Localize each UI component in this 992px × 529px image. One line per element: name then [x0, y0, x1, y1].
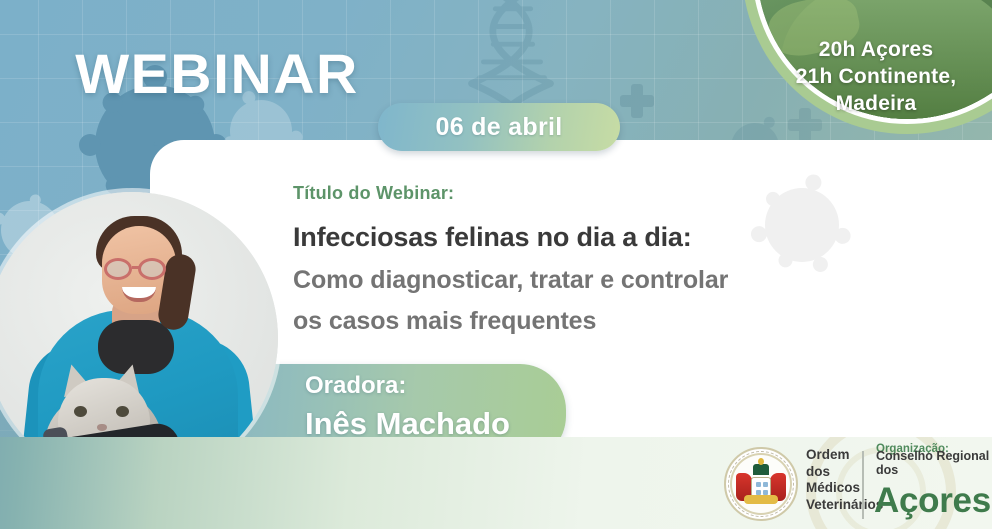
- webinar-title-label: Título do Webinar:: [293, 183, 454, 204]
- speaker-role-label: Oradora:: [305, 372, 406, 400]
- webinar-subtitle-line-1: Como diagnosticar, tratar e controlar: [293, 260, 728, 301]
- organization-subtitle: Conselho Regional dos: [876, 449, 992, 477]
- virus-icon-card-watermark: [727, 150, 877, 300]
- schedule-times: 20h Açores 21h Continente, Madeira: [768, 36, 984, 117]
- omv-name-line-4: Veterinários: [806, 497, 883, 514]
- organization-region: Açores: [874, 481, 991, 521]
- schedule-line-1: 20h Açores: [768, 36, 984, 63]
- omv-name-line-2: dos: [806, 464, 883, 481]
- schedule-line-3: Madeira: [768, 90, 984, 117]
- footer-divider: [862, 451, 864, 519]
- webinar-heading: WEBINAR: [75, 46, 359, 102]
- schedule-line-2: 21h Continente,: [768, 63, 984, 90]
- webinar-poster: 20h Açores 21h Continente, Madeira WEBIN…: [0, 0, 992, 529]
- webinar-subtitle-line-2: os casos mais frequentes: [293, 301, 728, 342]
- omv-organization-name: Ordem dos Médicos Veterinários: [806, 447, 883, 513]
- date-badge[interactable]: 06 de abril: [378, 103, 620, 151]
- omv-name-line-3: Médicos: [806, 480, 883, 497]
- webinar-title-main: Infecciosas felinas no dia a dia:: [293, 222, 692, 253]
- omv-name-line-1: Ordem: [806, 447, 883, 464]
- date-badge-label: 06 de abril: [436, 113, 563, 142]
- medical-cross-icon: [620, 84, 654, 118]
- webinar-subtitle: Como diagnosticar, tratar e controlar os…: [293, 260, 728, 342]
- omv-logo: [724, 447, 798, 521]
